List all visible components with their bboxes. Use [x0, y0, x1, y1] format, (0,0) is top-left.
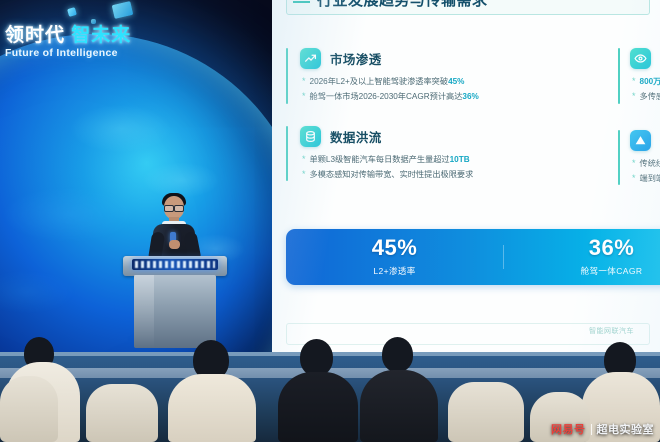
stat-value: 45%	[286, 237, 503, 259]
stat-label: L2+渗透率	[286, 265, 503, 277]
bullet-marker-icon: *	[302, 76, 306, 87]
audience-body	[278, 372, 358, 442]
watermark-account: 超电实验室	[597, 421, 655, 437]
podium-side-highlight	[134, 275, 154, 348]
audience-chair	[448, 382, 524, 442]
stat-label: 舱驾一体CAGR	[503, 265, 660, 277]
stat-l2-penetration: 45% L2+渗透率	[286, 237, 503, 277]
slide-title: 行业发展趋势与传输需求	[317, 0, 488, 10]
speaker-podium	[123, 256, 227, 348]
bullet-text: 传统线束方案难以承载高速数据	[640, 158, 660, 170]
bullet-text: 单颗L3级智能汽车每日数据产生量超过	[310, 155, 450, 164]
card-title: 数据洪流	[330, 127, 382, 146]
podium-led-display	[132, 259, 218, 270]
card-bullet: * 多传感器融合方案加速上车	[632, 91, 660, 103]
slide-title-bar: 行业发展趋势与传输需求	[286, 0, 650, 15]
watermark-divider	[591, 424, 592, 435]
slide-card-data-flood: 数据洪流 * 单颗L3级智能汽车每日数据产生量超过10TB * 多模态感知对传输…	[286, 122, 602, 188]
slide-card-market-penetration: 市场渗透 * 2026年L2+及以上智能驾驶渗透率突破45% * 舱驾一体市场2…	[286, 44, 602, 110]
audience-chair	[86, 384, 158, 442]
bullet-marker-icon: *	[632, 173, 636, 184]
title-dash-decor	[293, 1, 310, 3]
card-bullet: * 800万像素摄像头成为主流配置	[632, 76, 660, 88]
bullet-text: 多传感器融合方案加速上车	[640, 91, 660, 103]
decorative-chip-icon	[91, 19, 96, 24]
bullet-text: 多模态感知对传输带宽、实时性提出极限要求	[310, 169, 474, 181]
event-logo-english: Future of Intelligence	[5, 47, 133, 59]
bullet-marker-icon: *	[302, 91, 306, 102]
bullet-highlight: 800万	[640, 77, 660, 86]
watermark: 网易号 超电实验室	[551, 421, 654, 437]
stat-value: 36%	[503, 237, 660, 259]
presentation-slide: 行业发展趋势与传输需求 市场渗透 * 2026年L2	[272, 0, 660, 370]
card-bullet: * 传统线束方案难以承载高速数据	[632, 158, 660, 170]
event-logo: 领时代 智未来 Future of Intelligence	[5, 26, 133, 59]
database-icon	[300, 126, 321, 147]
slide-left-column: 市场渗透 * 2026年L2+及以上智能驾驶渗透率突破45% * 舱驾一体市场2…	[286, 44, 602, 199]
line-chart-icon	[300, 48, 321, 69]
bullet-text: 舱驾一体市场2026-2030年CAGR预计高达	[310, 92, 463, 101]
podium-top-panel	[123, 256, 227, 276]
speaker-glasses	[164, 205, 184, 210]
audience-chair	[0, 376, 58, 442]
bullet-text: 2026年L2+及以上智能驾驶渗透率突破	[310, 77, 449, 86]
bullet-marker-icon: *	[302, 169, 306, 180]
bullet-highlight: 45%	[448, 77, 464, 86]
slide-footer-note: 智能网联汽车	[589, 326, 634, 336]
audience-body	[168, 374, 256, 442]
slide-stat-bar: 45% L2+渗透率 36% 舱驾一体CAGR	[286, 229, 660, 285]
event-logo-cn-part1: 领时代	[5, 25, 65, 46]
card-bullet: * 2026年L2+及以上智能驾驶渗透率突破45%	[302, 76, 602, 88]
audience-head	[300, 339, 333, 376]
bullet-highlight: 10TB	[450, 155, 470, 164]
conference-stage-photo: 领时代 智未来 Future of Intelligence 行业发展趋势与传输…	[0, 0, 660, 442]
bullet-highlight: 36%	[462, 92, 478, 101]
warning-triangle-icon	[630, 130, 651, 151]
bullet-text: 端到端低时延传输成为关键挑战	[640, 173, 660, 185]
event-logo-chinese: 领时代 智未来	[5, 26, 133, 45]
eye-icon	[630, 48, 651, 69]
event-logo-cn-part2: 智未来	[71, 25, 131, 46]
card-title: 市场渗透	[330, 49, 382, 68]
bullet-marker-icon: *	[632, 76, 636, 87]
bullet-marker-icon: *	[632, 91, 636, 102]
slide-card-perception-upgrade: 感知升级 * 800万像素摄像头成为主流配置 * 多传感器融合方案加速上车	[618, 44, 660, 110]
audience-body	[360, 370, 438, 442]
speaker-hand	[169, 240, 180, 249]
bullet-marker-icon: *	[302, 154, 306, 165]
slide-card-transmission-bottleneck: 传输瓶颈 * 传统线束方案难以承载高速数据 * 端到端低时延传输成为关键挑战	[618, 126, 660, 192]
bullet-marker-icon: *	[632, 158, 636, 169]
audience-head	[382, 337, 413, 372]
watermark-brand: 网易号	[551, 421, 586, 437]
stat-cabin-driving-cagr: 36% 舱驾一体CAGR	[503, 237, 660, 277]
slide-right-column: 感知升级 * 800万像素摄像头成为主流配置 * 多传感器融合方案加速上车	[618, 44, 660, 207]
card-bullet: * 多模态感知对传输带宽、实时性提出极限要求	[302, 169, 602, 181]
card-bullet: * 舱驾一体市场2026-2030年CAGR预计高达36%	[302, 91, 602, 103]
card-bullet: * 端到端低时延传输成为关键挑战	[632, 173, 660, 185]
podium-led-text	[135, 261, 215, 268]
card-bullet: * 单颗L3级智能汽车每日数据产生量超过10TB	[302, 154, 602, 166]
